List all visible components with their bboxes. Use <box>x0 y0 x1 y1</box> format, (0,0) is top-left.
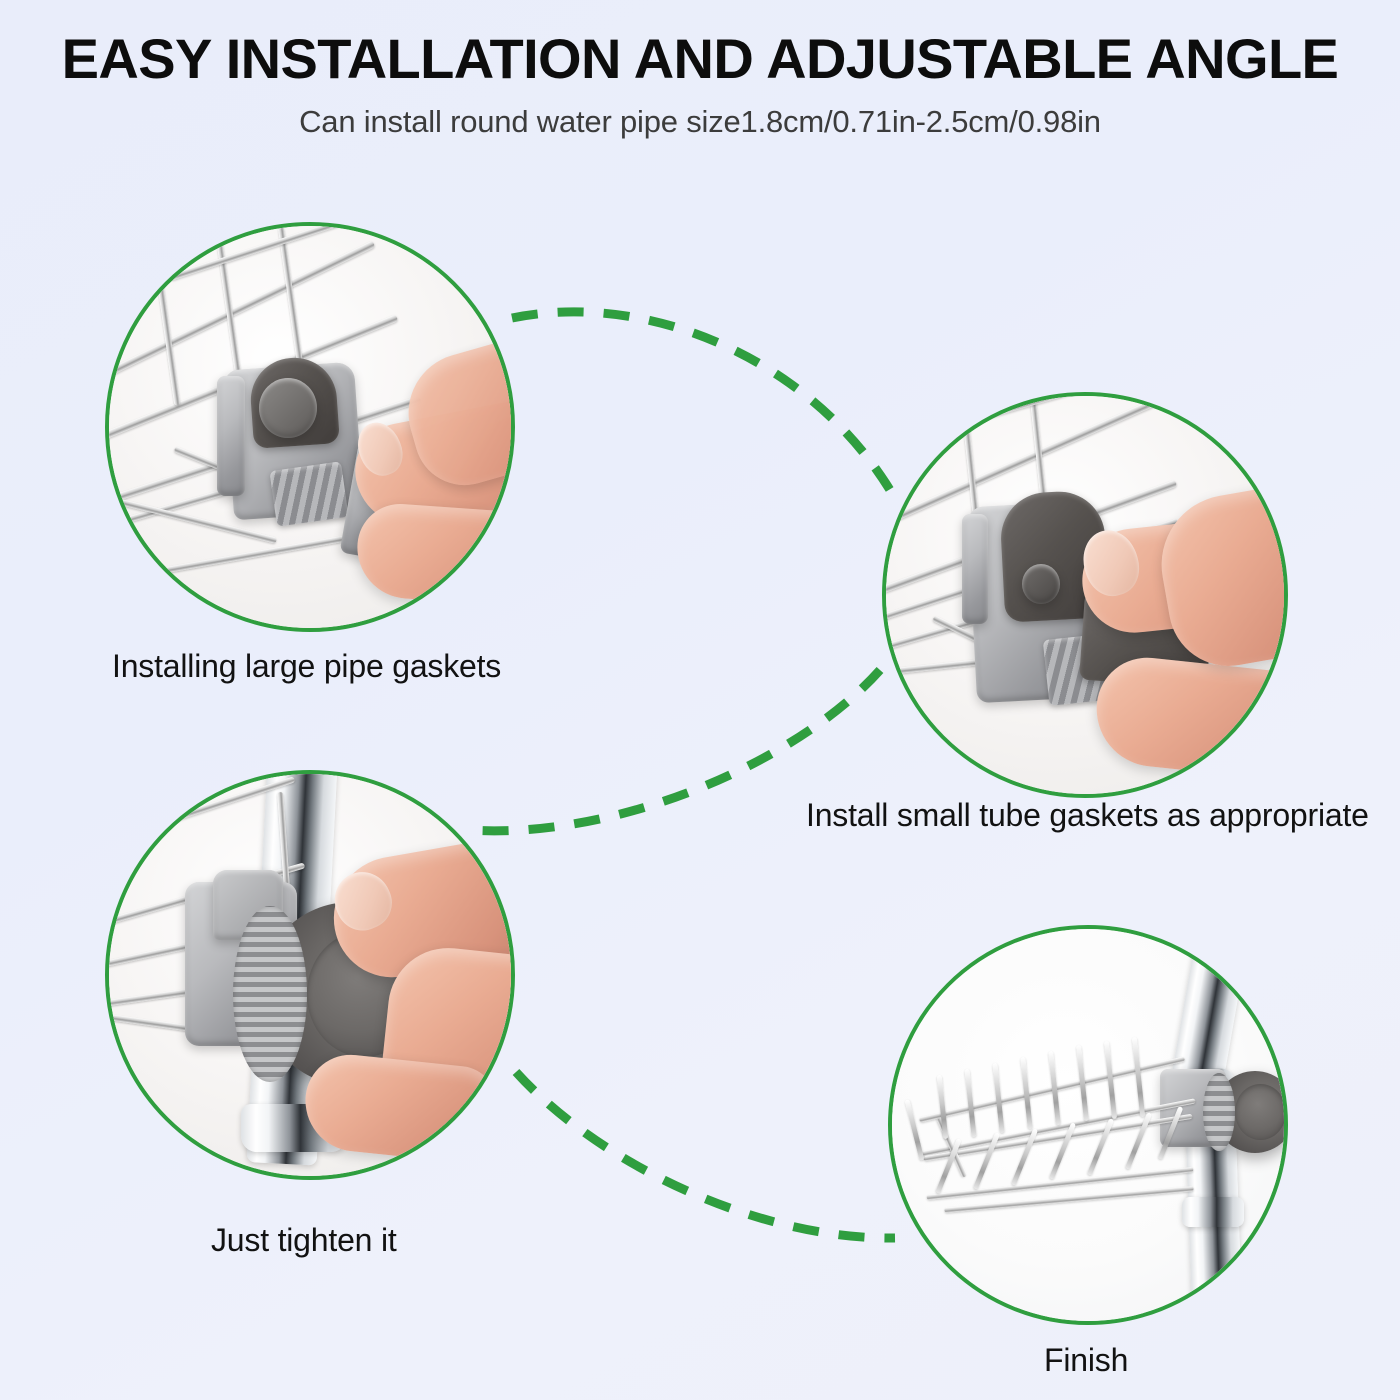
connector-3-to-4-path <box>516 1072 895 1238</box>
step-3-caption: Just tighten it <box>211 1222 397 1259</box>
clamp-ribs <box>269 461 348 526</box>
scene-finish <box>892 929 1284 1321</box>
tightening-knob <box>1214 1071 1288 1153</box>
step-4-caption: Finish <box>1044 1342 1128 1379</box>
step-2-image-panel <box>882 392 1288 798</box>
step-1-caption: Installing large pipe gaskets <box>112 648 501 685</box>
gasket-bore <box>1022 564 1060 604</box>
faucet-collar <box>1182 1197 1244 1227</box>
step-2-caption: Install small tube gaskets as appropriat… <box>806 797 1369 834</box>
clamp-arm <box>217 376 245 496</box>
clamp-arm <box>962 514 988 624</box>
infographic-stage: EASY INSTALLATION AND ADJUSTABLE ANGLE C… <box>0 0 1400 1400</box>
page-subtitle: Can install round water pipe size1.8cm/0… <box>0 104 1400 140</box>
connector-1-to-2-path <box>512 312 890 490</box>
step-3-image-panel <box>105 770 515 1180</box>
scene-installing-large-pipe-gaskets <box>109 226 511 628</box>
gasket-bore <box>259 378 317 438</box>
scene-install-small-tube-gaskets <box>886 396 1284 794</box>
page-title: EASY INSTALLATION AND ADJUSTABLE ANGLE <box>0 29 1400 89</box>
step-4-image-panel <box>888 925 1288 1325</box>
step-1-image-panel <box>105 222 515 632</box>
scene-just-tighten-it <box>109 774 511 1176</box>
